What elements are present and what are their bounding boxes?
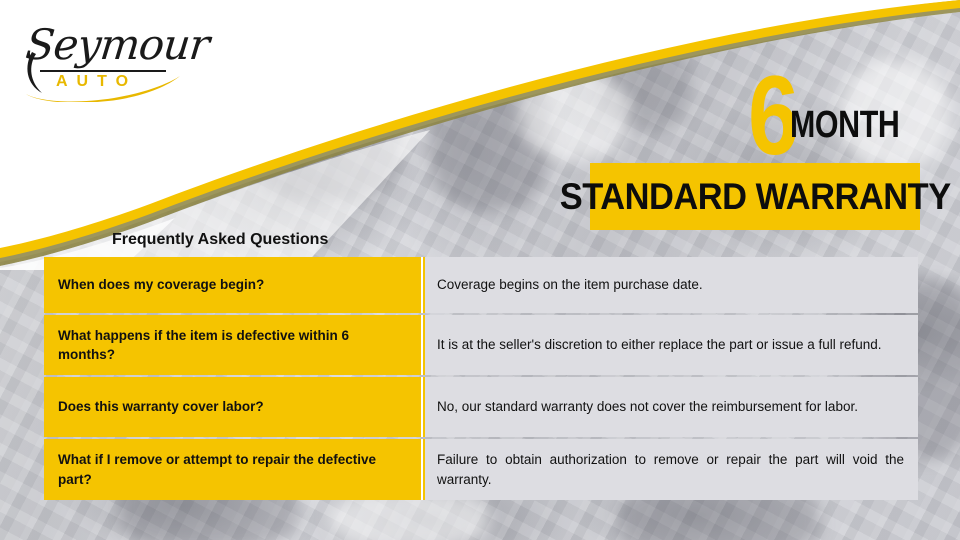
table-row: What if I remove or attempt to repair th… (44, 439, 918, 500)
warranty-duration: 6 MONTH (748, 46, 948, 158)
table-row: What happens if the item is defective wi… (44, 315, 918, 375)
faq-answer-cell: Failure to obtain authorization to remov… (423, 439, 918, 500)
faq-answer-cell: Coverage begins on the item purchase dat… (423, 257, 918, 313)
table-row: Does this warranty cover labor? No, our … (44, 377, 918, 437)
faq-answer-cell: No, our standard warranty does not cover… (423, 377, 918, 437)
faq-question-cell: Does this warranty cover labor? (44, 377, 423, 437)
faq-question-text: When does my coverage begin? (58, 275, 264, 294)
faq-question-text: Does this warranty cover labor? (58, 397, 264, 416)
standard-warranty-title: STANDARD WARRANTY (560, 176, 951, 218)
brand-logo: Seymour AUTO (18, 16, 218, 102)
faq-question-cell: What if I remove or attempt to repair th… (44, 439, 423, 500)
logo-underline (40, 70, 166, 72)
faq-question-cell: When does my coverage begin? (44, 257, 423, 313)
background-machine-shape (250, 80, 400, 200)
faq-question-text: What if I remove or attempt to repair th… (58, 450, 407, 488)
faq-answer-text: It is at the seller's discretion to eith… (437, 335, 904, 355)
faq-section-title: Frequently Asked Questions (112, 231, 328, 249)
warranty-slide: Seymour AUTO 6 MONTH STANDARD WARRANTY F… (0, 0, 960, 540)
faq-table: When does my coverage begin? Coverage be… (44, 257, 918, 500)
faq-answer-text: No, our standard warranty does not cover… (437, 397, 904, 417)
faq-answer-text: Failure to obtain authorization to remov… (437, 450, 904, 489)
background-highlight (520, 70, 630, 160)
faq-question-text: What happens if the item is defective wi… (58, 326, 407, 364)
standard-warranty-banner: STANDARD WARRANTY (590, 163, 920, 230)
logo-wordmark: Seymour (23, 20, 211, 69)
faq-question-cell: What happens if the item is defective wi… (44, 315, 423, 375)
duration-unit: MONTH (790, 106, 899, 144)
faq-answer-text: Coverage begins on the item purchase dat… (437, 275, 904, 295)
logo-subtitle: AUTO (56, 73, 137, 91)
faq-answer-cell: It is at the seller's discretion to eith… (423, 315, 918, 375)
table-row: When does my coverage begin? Coverage be… (44, 257, 918, 313)
